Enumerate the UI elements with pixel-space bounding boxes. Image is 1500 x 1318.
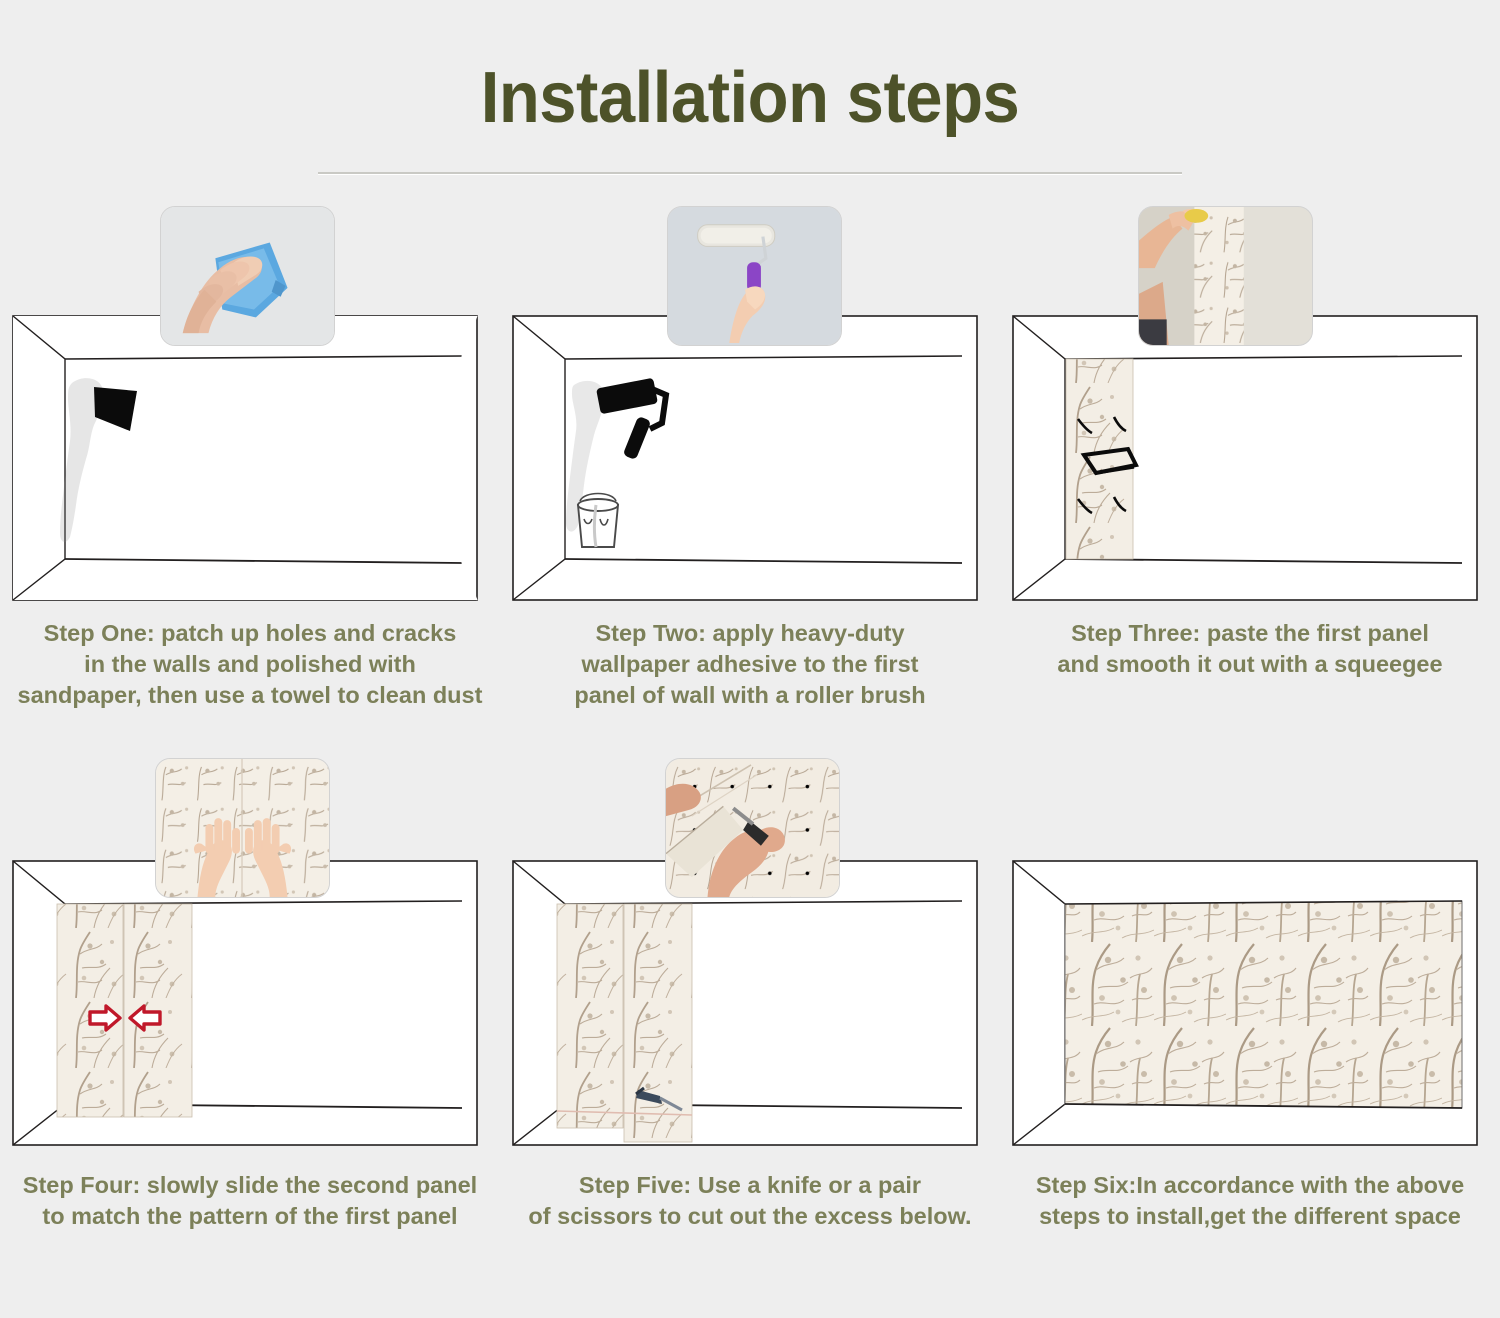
room-illustration-three <box>1010 313 1480 603</box>
step-caption-five: Step Five: Use a knife or a pair of scis… <box>500 1170 1000 1232</box>
step-card-five: Step Five: Use a knife or a pair of scis… <box>500 758 1000 1318</box>
room-illustration-six <box>1010 858 1480 1148</box>
title-divider <box>318 172 1182 175</box>
person-smoothing-wallpaper-panel-photo <box>1138 206 1313 346</box>
two-hands-matching-wallpaper-seam-photo <box>155 758 330 898</box>
hand-wiping-wall-with-blue-cloth-photo <box>160 206 335 346</box>
caption-line: Step Five: Use a knife or a pair <box>506 1170 994 1201</box>
installation-steps-grid: Step One: patch up holes and cracks in t… <box>0 198 1500 1318</box>
step-card-three: Step Three: paste the first panel and sm… <box>1000 198 1500 758</box>
wallpaper-panel-1 <box>557 904 623 1128</box>
step-card-six: Step Six:In accordance with the above st… <box>1000 758 1500 1318</box>
caption-line: Step Three: paste the first panel <box>1006 618 1494 649</box>
room-illustration-two <box>510 313 980 603</box>
caption-line: panel of wall with a roller brush <box>506 680 994 711</box>
wallpaper-panel-1 <box>1066 359 1133 559</box>
caption-line: Step Six:In accordance with the above <box>1006 1170 1494 1201</box>
room-illustration-five <box>510 858 980 1148</box>
caption-line: and smooth it out with a squeegee <box>1006 649 1494 680</box>
step-card-two: Step Two: apply heavy-duty wallpaper adh… <box>500 198 1000 758</box>
step-caption-two: Step Two: apply heavy-duty wallpaper adh… <box>500 618 1000 711</box>
step-caption-three: Step Three: paste the first panel and sm… <box>1000 618 1500 680</box>
wallpaper-panel-2 <box>624 904 692 1142</box>
caption-line: in the walls and polished with <box>6 649 494 680</box>
paint-bucket-icon <box>578 494 618 548</box>
page-title: Installation steps <box>53 48 1448 134</box>
caption-line: Step Two: apply heavy-duty <box>506 618 994 649</box>
room-illustration-one <box>10 313 480 603</box>
step-caption-four: Step Four: slowly slide the second panel… <box>0 1170 500 1232</box>
hand-rolling-paint-roller-on-wall-photo <box>667 206 842 346</box>
caption-line: of scissors to cut out the excess below. <box>506 1201 994 1232</box>
step-card-one: Step One: patch up holes and cracks in t… <box>0 198 500 758</box>
step-caption-six: Step Six:In accordance with the above st… <box>1000 1170 1500 1232</box>
completed-mural-wall <box>1065 901 1462 1108</box>
caption-line: Step Four: slowly slide the second panel <box>6 1170 494 1201</box>
caption-line: steps to install,get the different space <box>1006 1201 1494 1232</box>
room-illustration-four <box>10 858 480 1148</box>
caption-line: sandpaper, then use a towel to clean dus… <box>6 680 494 711</box>
step-caption-one: Step One: patch up holes and cracks in t… <box>0 618 500 711</box>
caption-line: to match the pattern of the first panel <box>6 1201 494 1232</box>
step-card-four: Step Four: slowly slide the second panel… <box>0 758 500 1318</box>
caption-line: Step One: patch up holes and cracks <box>6 618 494 649</box>
hand-cutting-wallpaper-with-knife-photo <box>665 758 840 898</box>
caption-line: wallpaper adhesive to the first <box>506 649 994 680</box>
